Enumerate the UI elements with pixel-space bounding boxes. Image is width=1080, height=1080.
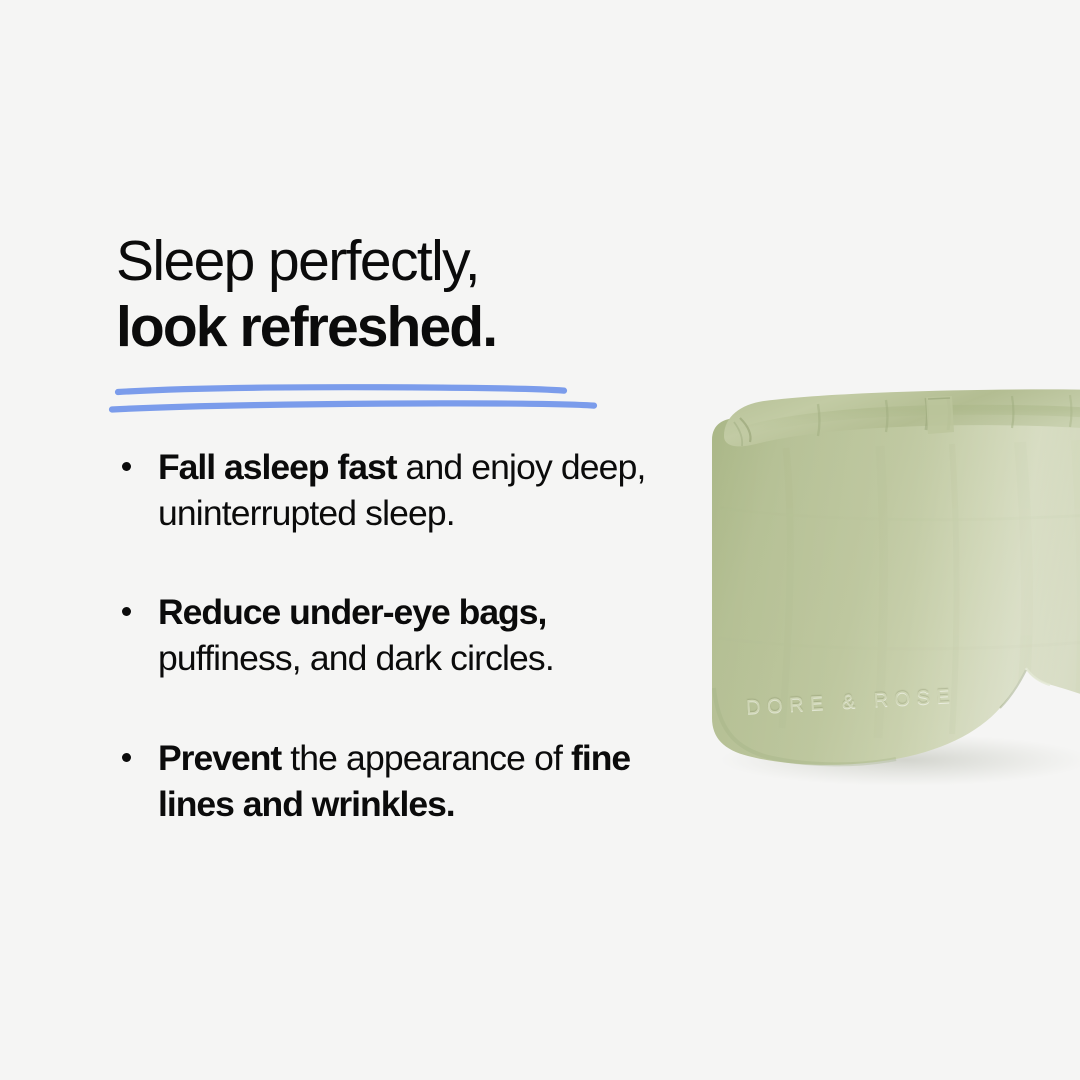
headline-line-1: Sleep perfectly, — [116, 228, 716, 294]
benefit-bold-lead: Fall asleep fast — [158, 447, 397, 487]
bullet-icon — [122, 462, 131, 471]
bullet-icon — [122, 607, 131, 616]
bullet-icon — [122, 753, 131, 762]
page-title: Sleep perfectly, look refreshed. — [116, 228, 716, 360]
marketing-banner: Sleep perfectly, look refreshed. Fall as… — [0, 0, 1080, 1080]
list-item: Fall asleep fast and enjoy deep, uninter… — [116, 444, 696, 536]
product-image-sleep-mask: DORE & ROSE — [690, 388, 1080, 788]
headline-underline-accent — [112, 380, 632, 420]
benefit-list: Fall asleep fast and enjoy deep, uninter… — [116, 444, 696, 827]
copy-block: Sleep perfectly, look refreshed. — [116, 228, 716, 360]
benefit-bold-lead: Prevent — [158, 738, 281, 778]
list-item: Reduce under-eye bags, puffiness, and da… — [116, 589, 696, 681]
headline-line-2: look refreshed. — [116, 294, 716, 360]
benefit-bold-lead: Reduce under-eye bags, — [158, 592, 546, 632]
benefit-text: the appearance of — [281, 738, 571, 778]
mask-body — [712, 418, 1080, 765]
list-item: Prevent the appearance of fine lines and… — [116, 735, 696, 827]
benefit-text: puffiness, and dark circles. — [158, 638, 554, 678]
